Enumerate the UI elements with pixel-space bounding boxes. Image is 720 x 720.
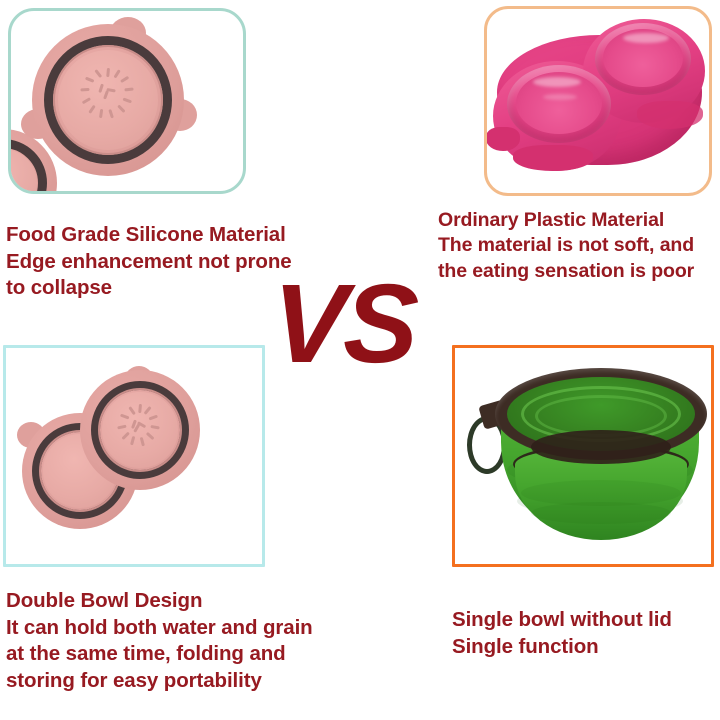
plastic-bowl-highlight [543, 94, 577, 100]
lid-vent-tick [80, 88, 89, 92]
double-silicone-bowl-artwork [6, 348, 262, 564]
green-bowl-fold-ridge [531, 502, 671, 524]
panel-top-left-silicone-lid [8, 8, 246, 194]
green-bowl-artwork [455, 348, 711, 564]
caption-bottom-right: Single bowl without lid Single function [452, 607, 720, 660]
panel-bottom-right-green-bowl [452, 345, 714, 567]
comparison-infographic: Food Grade Silicone Material Edge enhanc… [0, 0, 720, 720]
bowl-lid-face [58, 50, 158, 150]
caption-top-right: Ordinary Plastic Material The material i… [438, 208, 720, 284]
caption-bottom-left: Double Bowl Design It can hold both wate… [6, 588, 378, 695]
plastic-bowl-foot-front [513, 145, 593, 171]
plastic-bowl-highlight [533, 77, 581, 87]
plastic-bowl-highlight [623, 33, 669, 43]
panel-bottom-left-double-bowl [3, 345, 265, 567]
green-bowl-inner-shadow [531, 430, 671, 464]
silicone-lid-artwork [11, 11, 243, 191]
panel-top-right-plastic-bowl [484, 6, 712, 196]
plastic-bowl-foot-right [637, 101, 703, 129]
plastic-double-bowl-artwork [487, 9, 709, 193]
plastic-bowl-foot-left [486, 127, 520, 151]
vs-badge: VS [270, 268, 417, 380]
